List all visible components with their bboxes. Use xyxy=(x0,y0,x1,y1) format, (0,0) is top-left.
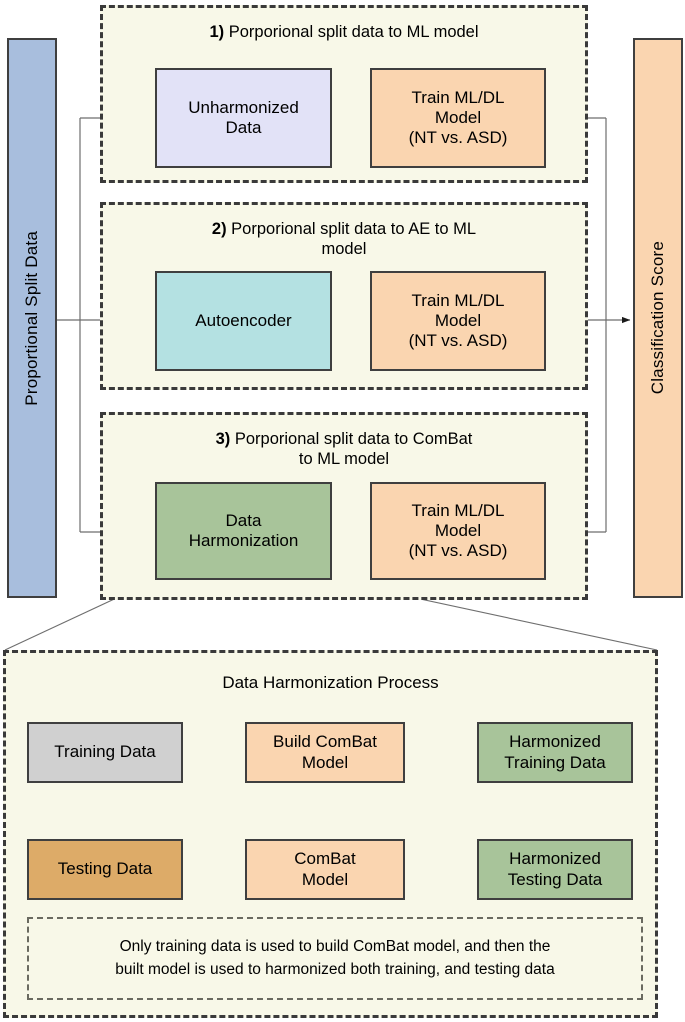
pipeline-2-title: 2) Porporional split data to AE to ML mo… xyxy=(100,220,588,260)
box-data-harmonization: Data Harmonization xyxy=(155,482,332,580)
box-train-model-3: Train ML/DL Model (NT vs. ASD) xyxy=(370,482,546,580)
box-harmonized-testing-data: Harmonized Testing Data xyxy=(477,839,633,900)
pipeline-2-index: 2) xyxy=(212,220,227,238)
box-unharmonized-data: Unharmonized Data xyxy=(155,68,332,168)
box-train-model-2: Train ML/DL Model (NT vs. ASD) xyxy=(370,271,546,371)
pipeline-1-title-text: Porporional split data to ML model xyxy=(224,23,478,41)
box-training-data: Training Data xyxy=(27,722,183,783)
detail-panel-title: Data Harmonization Process xyxy=(3,673,658,693)
output-bar-label: Classification Score xyxy=(648,241,668,394)
input-bar-proportional-split-data: Proportional Split Data xyxy=(7,38,57,598)
pipeline-3-title-text: Porporional split data to ComBat to ML m… xyxy=(230,430,472,468)
box-testing-data: Testing Data xyxy=(27,839,183,900)
pipeline-3-index: 3) xyxy=(216,430,231,448)
box-combat-model: ComBat Model xyxy=(245,839,405,900)
detail-panel-note: Only training data is used to build ComB… xyxy=(27,917,643,1000)
pipeline-3-title: 3) Porporional split data to ComBat to M… xyxy=(100,430,588,470)
box-autoencoder: Autoencoder xyxy=(155,271,332,371)
input-bar-label: Proportional Split Data xyxy=(22,231,42,406)
box-build-combat-model: Build ComBat Model xyxy=(245,722,405,783)
flowchart-diagram: Proportional Split Data Classification S… xyxy=(0,0,685,1022)
box-train-model-1: Train ML/DL Model (NT vs. ASD) xyxy=(370,68,546,168)
pipeline-1-title: 1) Porporional split data to ML model xyxy=(100,23,588,43)
output-bar-classification-score: Classification Score xyxy=(633,38,683,598)
pipeline-2-title-text: Porporional split data to AE to ML model xyxy=(227,220,476,258)
box-harmonized-training-data: Harmonized Training Data xyxy=(477,722,633,783)
pipeline-1-index: 1) xyxy=(209,23,224,41)
